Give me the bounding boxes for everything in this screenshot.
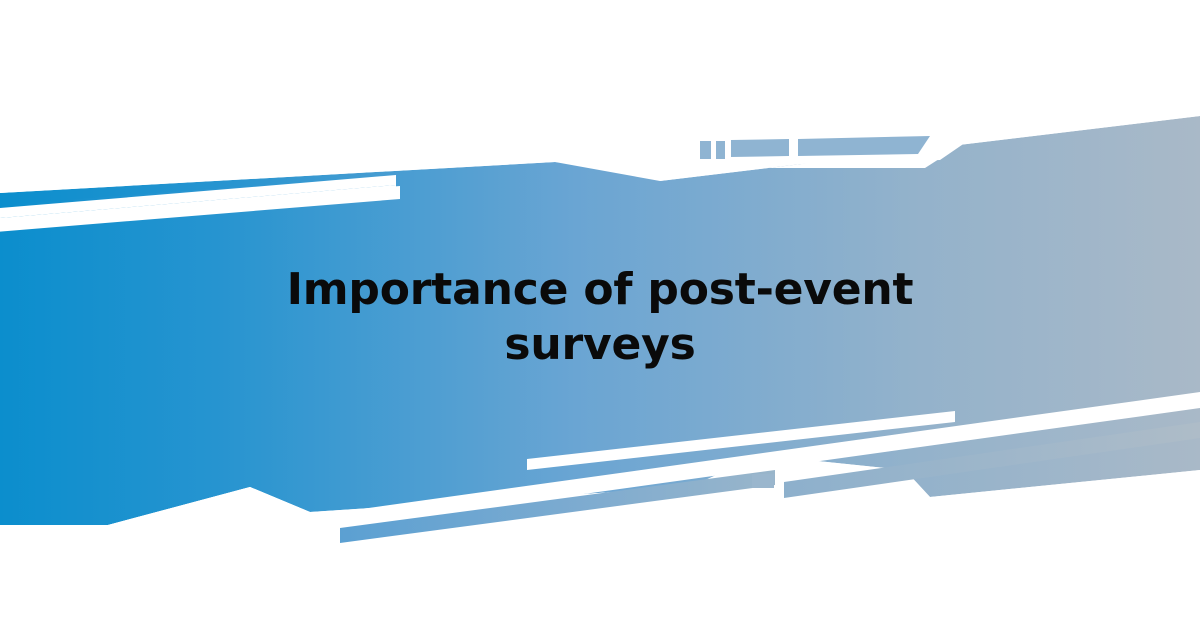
stripe-tick	[752, 474, 774, 488]
dash-mark-2	[716, 141, 725, 159]
dash-mark-3	[731, 139, 789, 157]
dash-mark-1	[699, 141, 711, 159]
banner: Importance of post-event surveys	[0, 0, 1200, 630]
banner-artwork	[0, 0, 1200, 630]
dash-mark-4	[798, 136, 930, 156]
top-white-field	[0, 0, 700, 193]
